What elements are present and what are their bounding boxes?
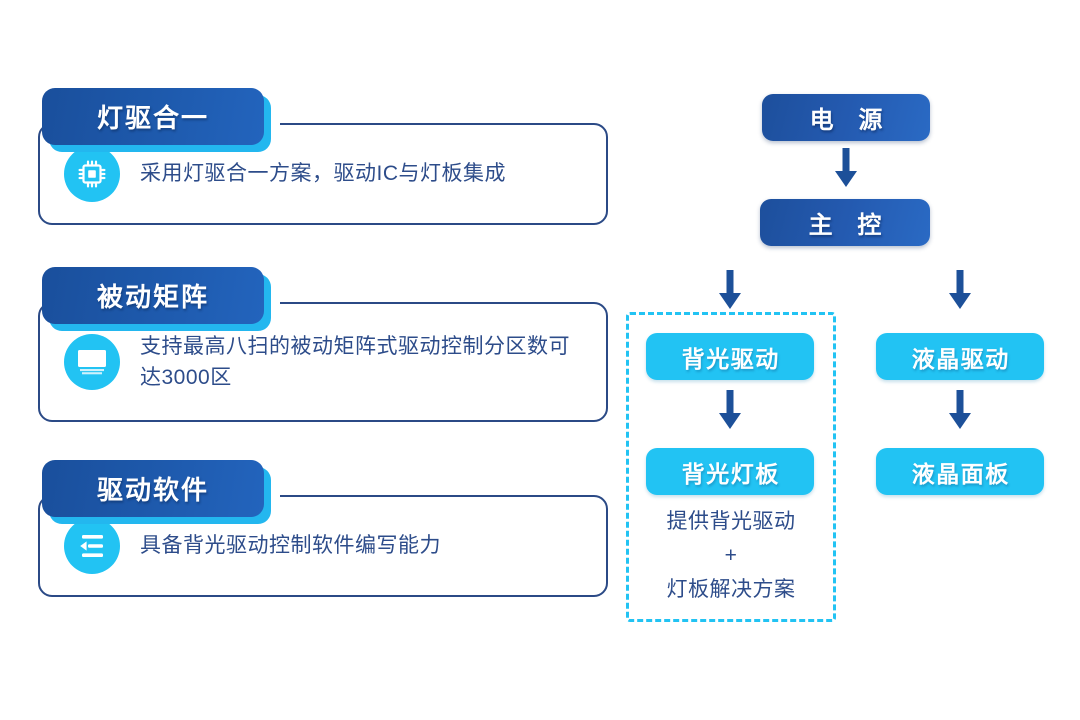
arrow-down-icon <box>947 390 973 430</box>
chip-icon <box>64 146 120 202</box>
feature-card-tab: 驱动软件 <box>42 460 264 517</box>
feature-card-list: 灯驱合一 采用灯驱合一方案，驱动IC与灯板集成 <box>38 88 608 597</box>
group-caption-line-1: 提供背光驱动 <box>626 505 836 539</box>
tab-face: 灯驱合一 <box>42 88 264 145</box>
arrow-down-icon <box>717 270 743 310</box>
flow-node-lcd-panel: 液晶面板 <box>876 448 1044 495</box>
flow-node-label: 液晶面板 <box>910 455 1010 489</box>
flow-node-label: 液晶驱动 <box>910 340 1010 374</box>
arrow-down-icon <box>833 148 859 188</box>
tab-face: 驱动软件 <box>42 460 264 517</box>
flow-node-label: 背光灯板 <box>680 455 780 489</box>
flow-node-label: 电 源 <box>801 100 892 135</box>
arrow-down-icon <box>717 390 743 430</box>
signal-flow-diagram: 电 源 主 控 背光驱动 液晶驱动 背光灯板 液晶面板 提供背光驱动 + 灯板解… <box>618 80 1070 640</box>
feature-card-tab: 灯驱合一 <box>42 88 264 145</box>
feature-card-tab: 被动矩阵 <box>42 267 264 324</box>
tab-face: 被动矩阵 <box>42 267 264 324</box>
feature-card-light-driver-integration: 灯驱合一 采用灯驱合一方案，驱动IC与灯板集成 <box>38 88 608 225</box>
display-panel-icon <box>64 334 120 390</box>
feature-card-passive-matrix: 被动矩阵 支持最高八扫的被动矩阵式驱动控制分区数可达3000区 <box>38 267 608 422</box>
feature-tab-label: 灯驱合一 <box>97 98 209 135</box>
feature-description: 具备背光驱动控制软件编写能力 <box>140 530 441 562</box>
group-caption: 提供背光驱动 + 灯板解决方案 <box>626 505 836 607</box>
flow-node-backlight-driver: 背光驱动 <box>646 333 814 380</box>
group-caption-line-3: 灯板解决方案 <box>626 573 836 607</box>
flow-node-mcu: 主 控 <box>760 199 930 246</box>
feature-description: 支持最高八扫的被动矩阵式驱动控制分区数可达3000区 <box>140 331 584 394</box>
feature-description: 采用灯驱合一方案，驱动IC与灯板集成 <box>140 158 506 190</box>
flow-node-lcd-driver: 液晶驱动 <box>876 333 1044 380</box>
group-caption-line-2: + <box>626 539 836 573</box>
flow-node-power: 电 源 <box>762 94 930 141</box>
flow-node-backlight-board: 背光灯板 <box>646 448 814 495</box>
feature-tab-label: 驱动软件 <box>97 470 209 507</box>
feature-card-driver-software: 驱动软件 具备背光驱动控制软件编写能力 <box>38 460 608 597</box>
feature-tab-label: 被动矩阵 <box>97 277 209 314</box>
flow-node-label: 背光驱动 <box>680 340 780 374</box>
arrow-down-icon <box>947 270 973 310</box>
flow-node-label: 主 控 <box>800 205 891 240</box>
code-indent-icon <box>64 518 120 574</box>
